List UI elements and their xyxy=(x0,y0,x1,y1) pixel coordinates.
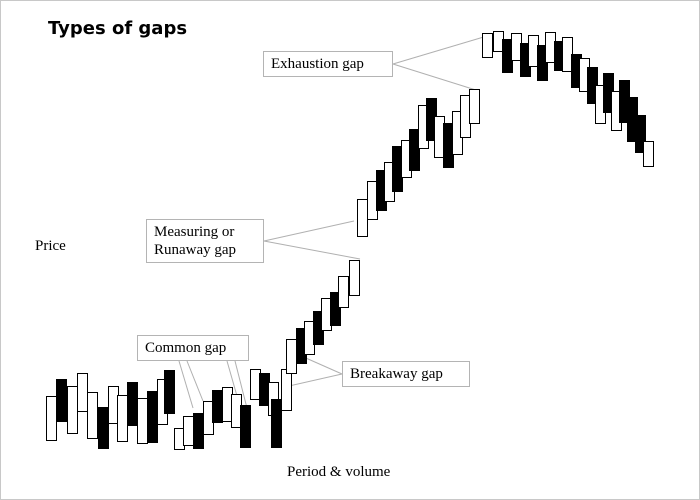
callout-exhaustion-gap[interactable]: Exhaustion gap xyxy=(263,51,393,77)
candlestick-bar xyxy=(87,392,98,439)
callout-common-gap[interactable]: Common gap xyxy=(137,335,249,361)
candlestick-bar xyxy=(56,379,67,422)
candlestick-bar xyxy=(643,141,654,167)
chart-canvas: Types of gaps Price Period & volume Exha… xyxy=(0,0,700,500)
candlestick-bar xyxy=(281,369,292,411)
callout-measuring-runaway-gap[interactable]: Measuring or Runaway gap xyxy=(146,219,264,263)
candlestick-bar xyxy=(349,260,360,296)
candlestick-bar xyxy=(164,370,175,414)
candlestick-bar xyxy=(482,33,493,58)
candlestick-bar xyxy=(240,405,251,448)
callout-breakaway-gap[interactable]: Breakaway gap xyxy=(342,361,470,387)
candlestick-bar xyxy=(338,276,349,308)
candlestick-bar xyxy=(469,89,480,124)
